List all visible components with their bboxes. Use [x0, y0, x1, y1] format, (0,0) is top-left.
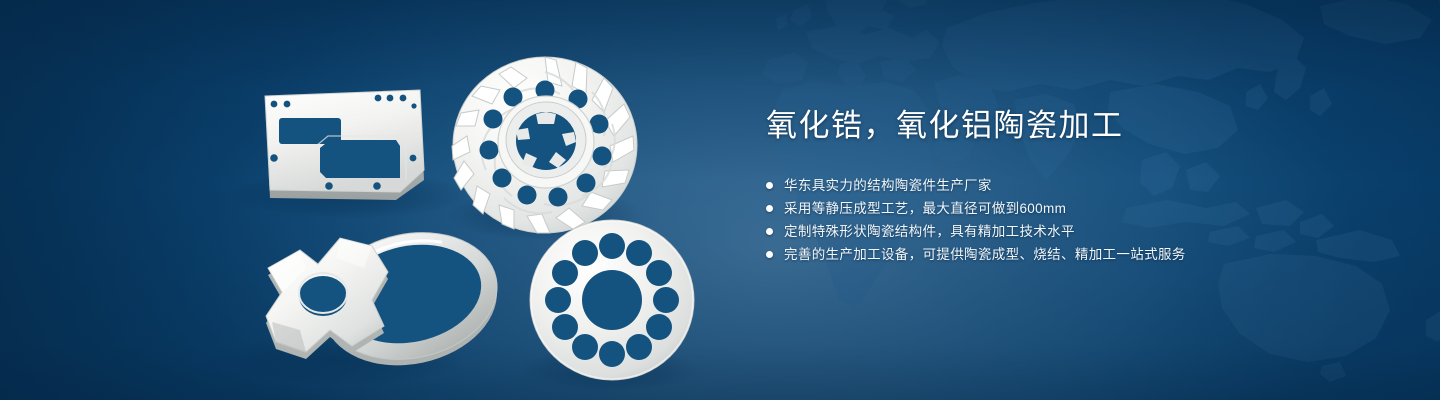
- bullet-dot-icon: [766, 251, 773, 258]
- bullet-dot-icon: [766, 182, 773, 189]
- banner-copy: 氧化锆，氧化铝陶瓷加工 华东具实力的结构陶瓷件生产厂家 采用等静压成型工艺，最大…: [766, 104, 1386, 266]
- ceramic-impeller: [452, 57, 637, 233]
- ceramic-flat-plate: [265, 90, 424, 200]
- hero-banner: 氧化锆，氧化铝陶瓷加工 华东具实力的结构陶瓷件生产厂家 采用等静压成型工艺，最大…: [0, 0, 1440, 400]
- feature-text: 定制特殊形状陶瓷结构件，具有精加工技术水平: [784, 220, 1075, 243]
- page-title: 氧化锆，氧化铝陶瓷加工: [766, 104, 1386, 148]
- feature-text: 华东具实力的结构陶瓷件生产厂家: [784, 174, 992, 197]
- list-item: 完善的生产加工设备，可提供陶瓷成型、烧结、精加工一站式服务: [766, 243, 1386, 266]
- list-item: 定制特殊形状陶瓷结构件，具有精加工技术水平: [766, 220, 1386, 243]
- feature-list: 华东具实力的结构陶瓷件生产厂家 采用等静压成型工艺，最大直径可做到600mm 定…: [766, 174, 1386, 266]
- list-item: 采用等静压成型工艺，最大直径可做到600mm: [766, 197, 1386, 220]
- feature-text: 完善的生产加工设备，可提供陶瓷成型、烧结、精加工一站式服务: [784, 243, 1186, 266]
- ceramic-hole-disc: [530, 220, 694, 380]
- ceramic-products-image: [0, 0, 740, 400]
- bullet-dot-icon: [766, 228, 773, 235]
- bullet-dot-icon: [766, 205, 773, 212]
- list-item: 华东具实力的结构陶瓷件生产厂家: [766, 174, 1386, 197]
- feature-text: 采用等静压成型工艺，最大直径可做到600mm: [784, 197, 1066, 220]
